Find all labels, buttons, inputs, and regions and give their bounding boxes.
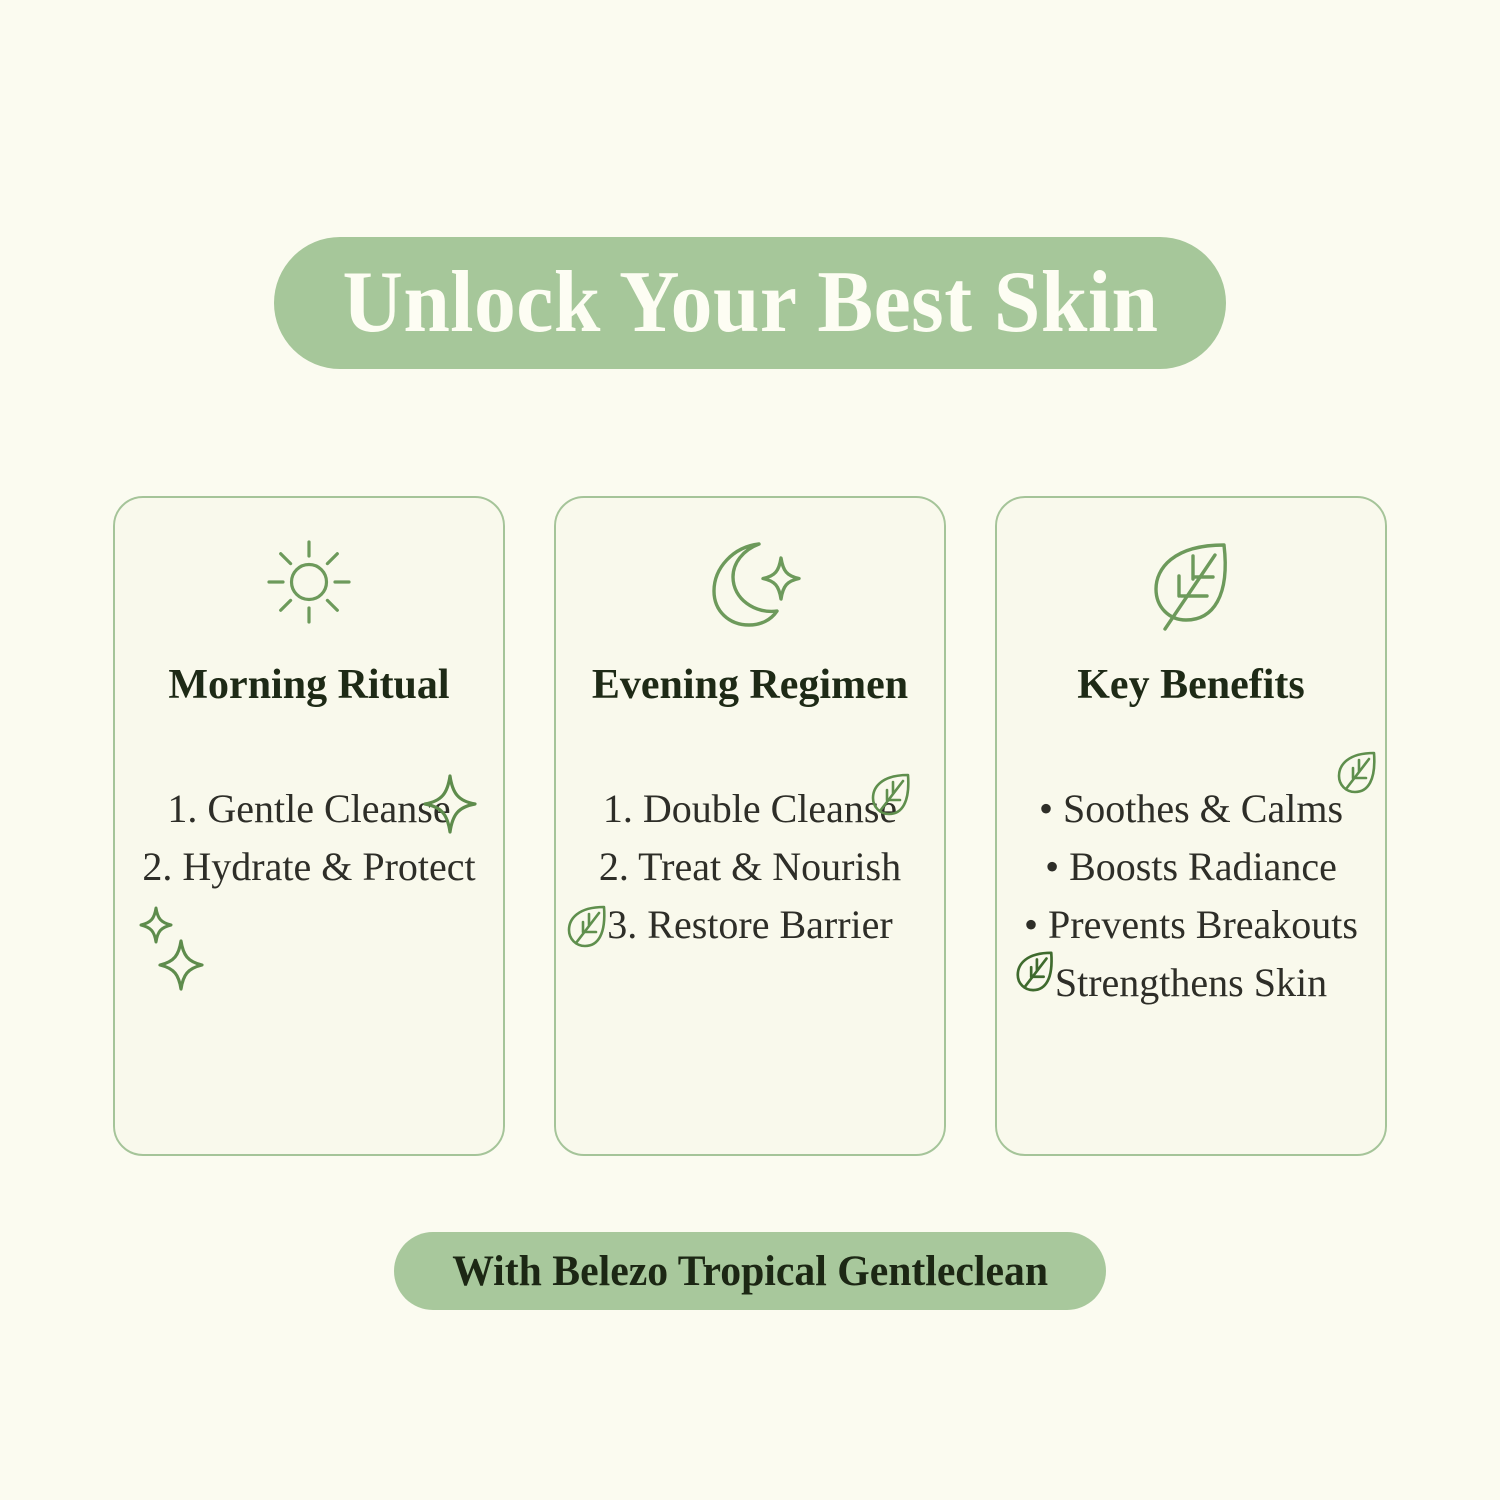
card-key-benefits[interactable]: Key Benefits • Soothes & Calms • Boosts …: [995, 496, 1387, 1156]
cards-row: Morning Ritual 1. Gentle Cleanse 2. Hydr…: [113, 496, 1387, 1156]
card-list-benefits: • Soothes & Calms • Boosts Radiance • Pr…: [997, 780, 1385, 1012]
card-icon-wrap: [115, 536, 503, 636]
card-list-morning: 1. Gentle Cleanse 2. Hydrate & Protect: [115, 780, 503, 896]
card-title-evening: Evening Regimen: [556, 664, 944, 706]
title-banner: Unlock Your Best Skin: [274, 237, 1226, 369]
footer-banner: With Belezo Tropical Gentleclean: [394, 1232, 1106, 1310]
leaf-icon: [1143, 536, 1239, 636]
card-title-benefits: Key Benefits: [997, 664, 1385, 706]
list-item: 2. Treat & Nourish: [556, 838, 944, 896]
list-item: • Soothes & Calms: [997, 780, 1385, 838]
card-evening-regimen[interactable]: Evening Regimen 1. Double Cleanse 2. Tre…: [554, 496, 946, 1156]
card-icon-wrap: [556, 536, 944, 636]
list-item: 1. Gentle Cleanse: [115, 780, 503, 838]
card-morning-ritual[interactable]: Morning Ritual 1. Gentle Cleanse 2. Hydr…: [113, 496, 505, 1156]
footer-text: With Belezo Tropical Gentleclean: [452, 1250, 1048, 1293]
card-title-morning: Morning Ritual: [115, 664, 503, 706]
moon-star-icon: [697, 536, 803, 636]
page-title: Unlock Your Best Skin: [342, 259, 1158, 347]
list-item: 2. Hydrate & Protect: [115, 838, 503, 896]
list-item: Strengthens Skin: [997, 954, 1385, 1012]
list-item: • Boosts Radiance: [997, 838, 1385, 896]
list-item: • Prevents Breakouts: [997, 896, 1385, 954]
sparkle-icon: [157, 938, 205, 997]
card-list-evening: 1. Double Cleanse 2. Treat & Nourish 3. …: [556, 780, 944, 954]
sun-icon: [263, 536, 355, 636]
sparkle-icon: [139, 906, 173, 949]
list-item: 1. Double Cleanse: [556, 780, 944, 838]
card-icon-wrap: [997, 536, 1385, 636]
list-item: 3. Restore Barrier: [556, 896, 944, 954]
